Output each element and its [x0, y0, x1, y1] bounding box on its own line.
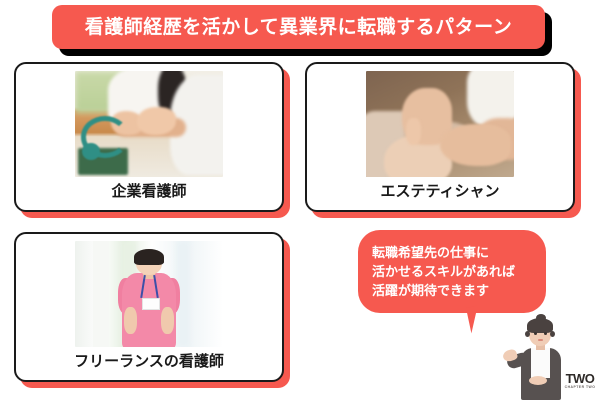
nurse-examining-patient-arm-photo: [75, 71, 223, 177]
card-label: エステティシャン: [380, 184, 499, 199]
photo-window-pane-1: [93, 241, 109, 347]
character-eye-left: [534, 332, 537, 335]
photo-therapist-finger: [406, 118, 421, 146]
card-freelance-nurse[interactable]: フリーランスの看護師: [14, 232, 284, 382]
header-banner: 看護師経歴を活かして異業界に転職するパターン: [52, 5, 545, 49]
character-mouth: [538, 339, 543, 341]
card-label: フリーランスの看護師: [74, 354, 224, 369]
character-hair-bun: [536, 314, 546, 322]
brand-logo: TWO CHAPTER TWO: [562, 372, 598, 394]
page-title: 看護師経歴を活かして異業界に転職するパターン: [85, 18, 512, 37]
photo-arm-right: [161, 307, 174, 335]
nurse-in-pink-scrubs-photo: [75, 241, 223, 347]
photo-hand-right: [137, 107, 175, 135]
speech-bubble-line: 活躍が期待できます: [372, 281, 546, 300]
infographic-canvas: 看護師経歴を活かして異業界に転職するパターン 企業看護師: [0, 0, 600, 400]
character-ear-left: [525, 331, 530, 337]
logo-tagline: CHAPTER TWO: [565, 385, 596, 390]
logo-wordmark: TWO: [566, 372, 595, 385]
character-hand-front: [529, 376, 547, 385]
card-esthetician[interactable]: エステティシャン: [305, 62, 575, 212]
card-label: 企業看護師: [111, 184, 186, 199]
photo-therapist-hand-lower: [440, 124, 511, 166]
esthetician-facial-treatment-photo: [366, 71, 514, 177]
speech-bubble: 転職希望先の仕事に 活かせるスキルがあれば 活躍が期待できます: [358, 230, 546, 313]
photo-arm-left: [124, 307, 137, 335]
card-corporate-nurse[interactable]: 企業看護師: [14, 62, 284, 212]
character-ear-right: [550, 331, 555, 337]
photo-hair: [134, 249, 164, 265]
photo-id-badge: [142, 298, 160, 310]
speech-bubble-line: 転職希望先の仕事に: [372, 243, 546, 262]
speech-bubble-line: 活かせるスキルがあれば: [372, 262, 546, 281]
character-eye-right: [544, 332, 547, 335]
